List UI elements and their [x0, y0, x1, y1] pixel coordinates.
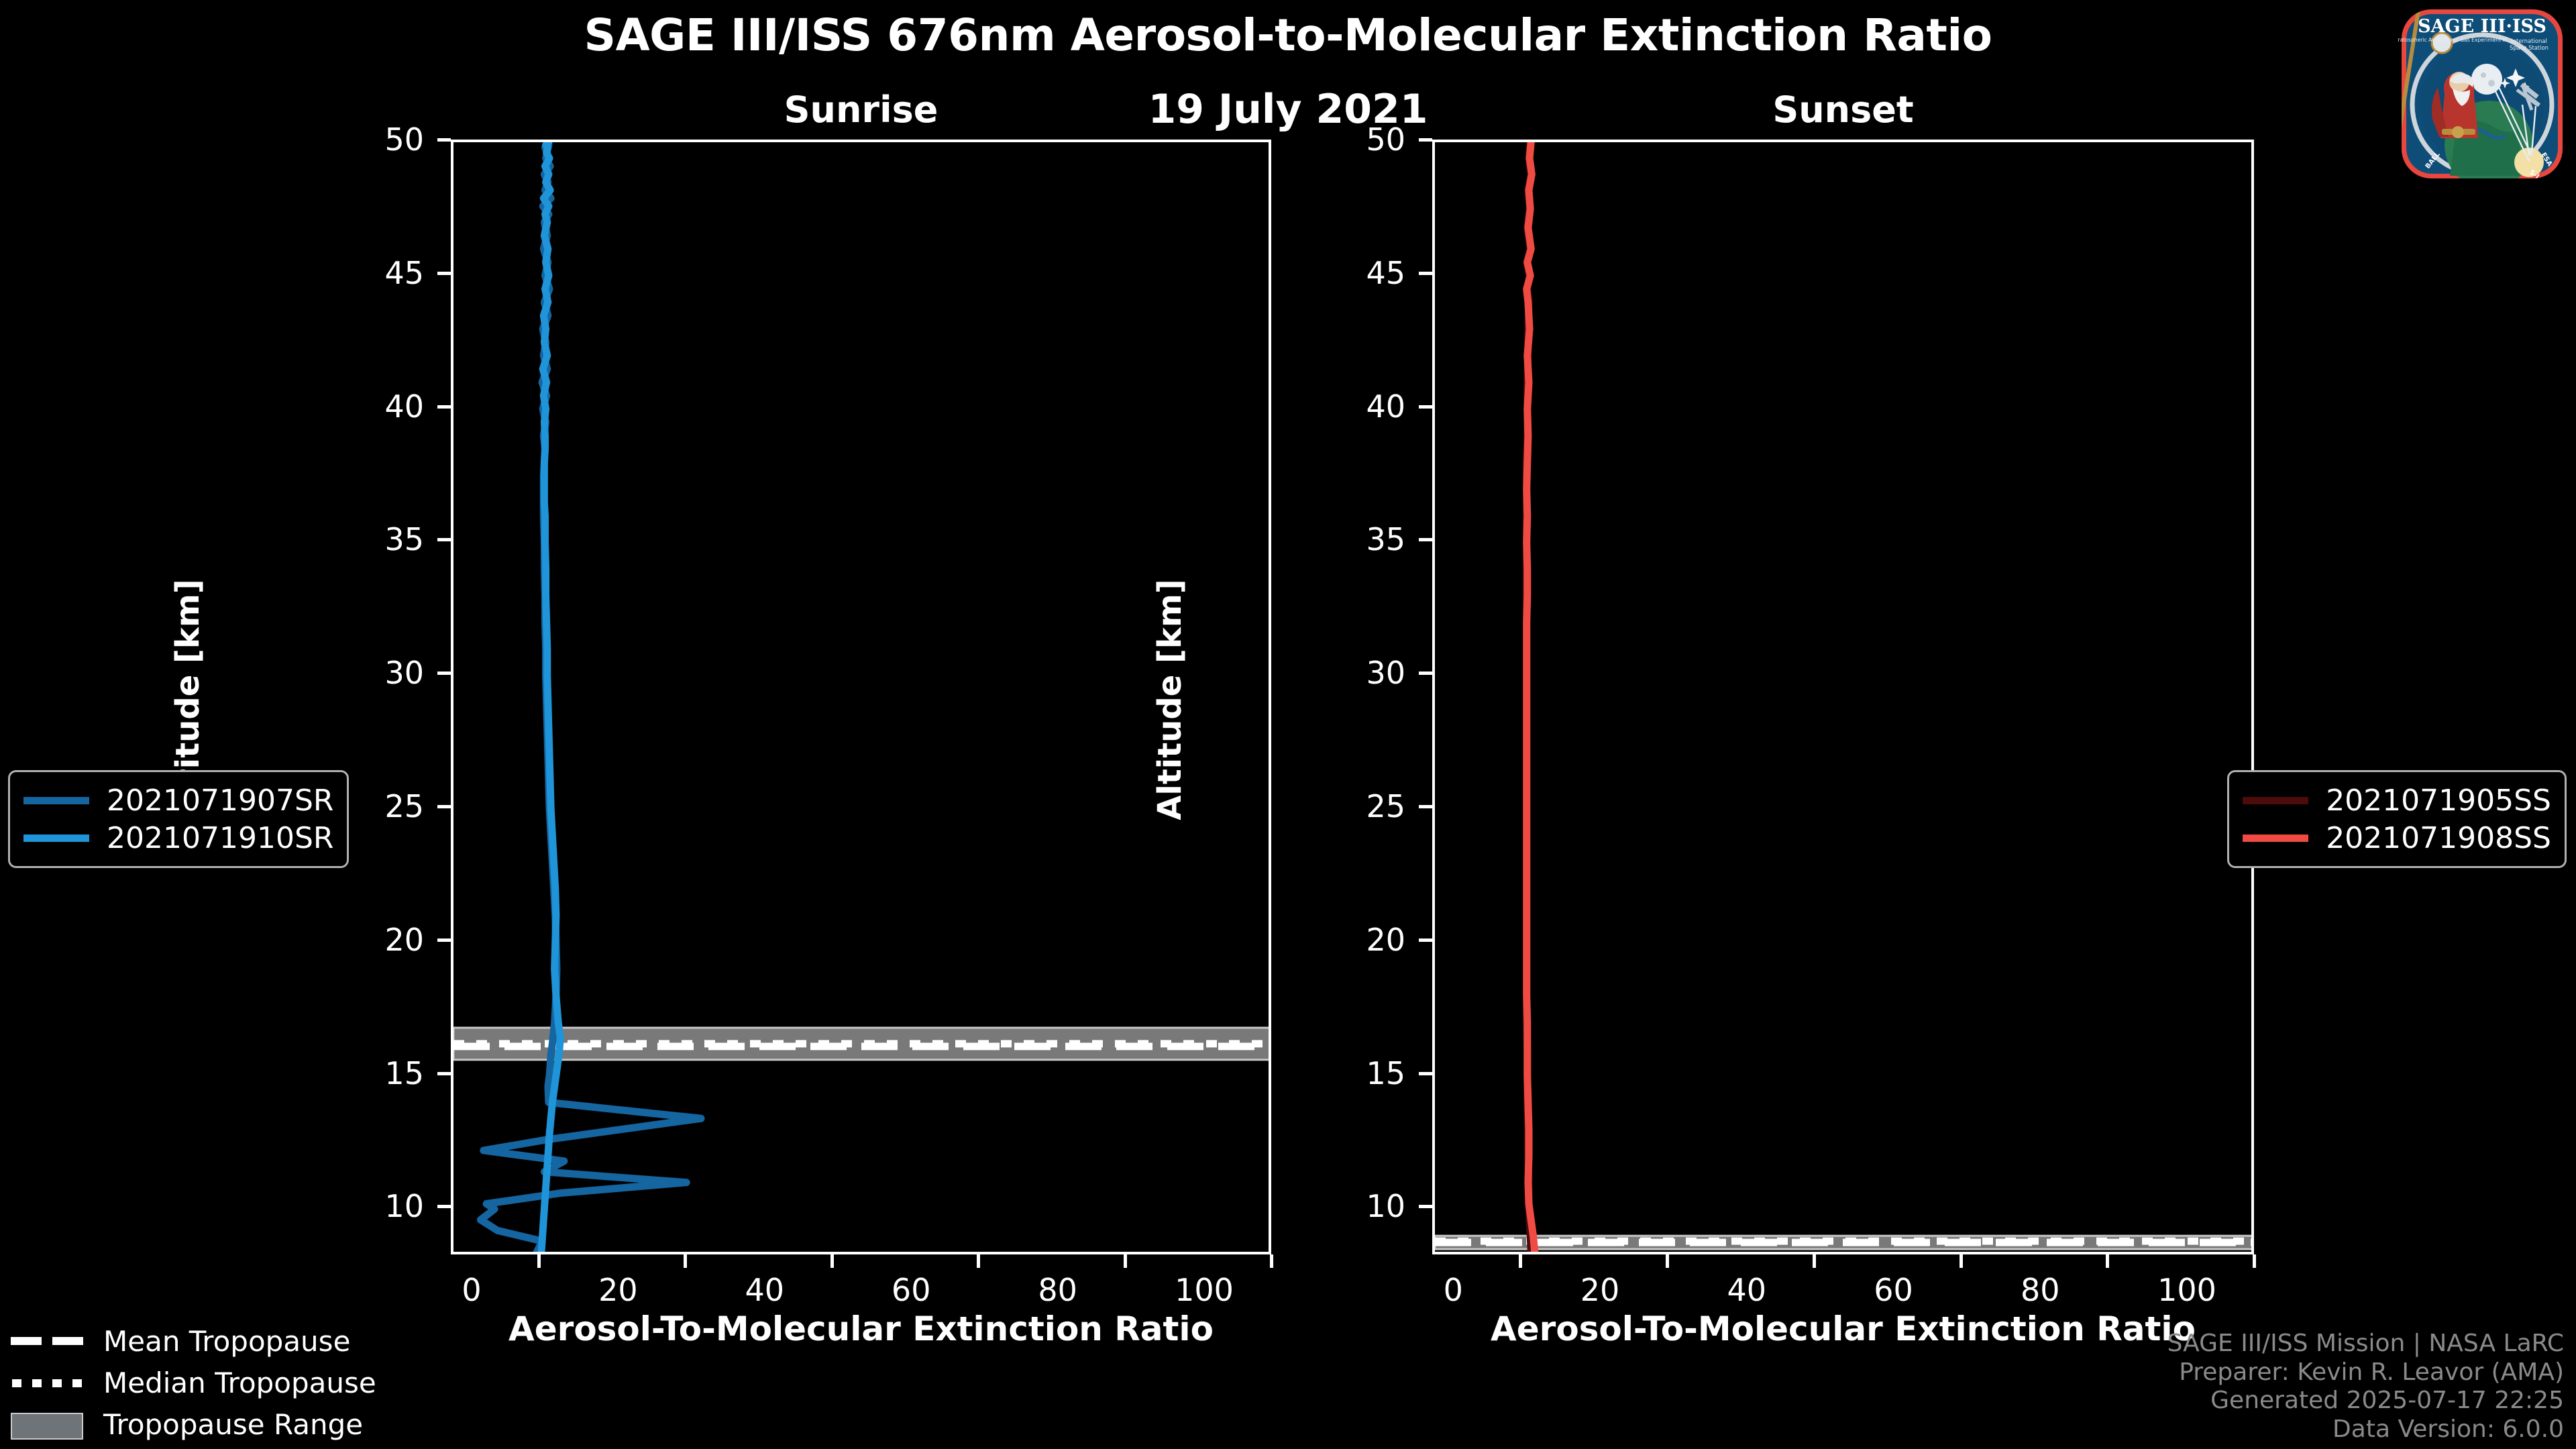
y-tick-mark — [437, 538, 451, 541]
x-tick-label: 40 — [698, 1272, 832, 1308]
dashed-line-icon — [11, 1334, 86, 1348]
x-tick-label: 80 — [1973, 1272, 2107, 1308]
y-tick-mark — [1419, 138, 1432, 142]
x-axis-label-sunrise: Aerosol-To-Molecular Extinction Ratio — [451, 1309, 1271, 1348]
y-tick-label: 50 — [323, 121, 424, 158]
sage-iii-iss-logo-icon: BALL ESA S-I SAGE III·ISS Stratospheric … — [2398, 4, 2567, 182]
y-tick-label: 20 — [323, 922, 424, 958]
y-axis-label-sunset: Altitude [km] — [1151, 398, 1189, 1002]
credits-line-version: Data Version: 6.0.0 — [2167, 1415, 2564, 1444]
x-tick-mark — [1519, 1254, 1522, 1268]
y-tick-mark — [1419, 1072, 1432, 1075]
x-tick-label: 60 — [844, 1272, 978, 1308]
legend-item[interactable]: 2021071907SR — [23, 782, 333, 819]
y-tick-label: 45 — [323, 255, 424, 291]
y-tick-mark — [1419, 1205, 1432, 1208]
x-tick-label: 100 — [2120, 1272, 2254, 1308]
y-tick-mark — [437, 272, 451, 275]
svg-text:International: International — [2511, 38, 2546, 44]
range-swatch-icon — [11, 1417, 86, 1432]
legend-item-median-tropopause: Median Tropopause — [11, 1362, 376, 1403]
data-series-line — [1527, 142, 1535, 1252]
y-tick-mark — [437, 1205, 451, 1208]
legend-label: 2021071905SS — [2326, 784, 2551, 818]
plot-area-sunset — [1432, 140, 2254, 1254]
y-tick-mark — [437, 805, 451, 808]
y-tick-label: 40 — [323, 388, 424, 425]
x-tick-label: 100 — [1137, 1272, 1271, 1308]
tropopause-legend: Mean Tropopause Median Tropopause Tropop… — [11, 1320, 376, 1445]
panel-title-sunrise: Sunrise — [451, 89, 1271, 131]
x-axis-label-sunset: Aerosol-To-Molecular Extinction Ratio — [1432, 1309, 2254, 1348]
x-tick-label: 80 — [991, 1272, 1125, 1308]
legend-item-tropopause-range: Tropopause Range — [11, 1403, 376, 1445]
y-tick-label: 15 — [323, 1055, 424, 1091]
legend-color-swatch — [2243, 835, 2308, 842]
x-tick-mark — [1270, 1254, 1273, 1268]
y-axis-label-sunrise: Altitude [km] — [169, 398, 207, 1002]
legend-item[interactable]: 2021071908SS — [2243, 819, 2551, 857]
y-tick-label: 30 — [1305, 655, 1405, 691]
legend-sunrise[interactable]: 2021071907SR2021071910SR — [8, 770, 349, 868]
legend-item[interactable]: 2021071910SR — [23, 819, 333, 857]
y-tick-mark — [437, 405, 451, 409]
legend-color-swatch — [2243, 797, 2308, 804]
x-tick-mark — [1960, 1254, 1963, 1268]
x-tick-mark — [1124, 1254, 1127, 1268]
y-tick-mark — [437, 1072, 451, 1075]
y-tick-label: 10 — [1305, 1188, 1405, 1224]
y-tick-label: 25 — [1305, 788, 1405, 824]
x-tick-mark — [977, 1254, 980, 1268]
y-tick-label: 35 — [323, 521, 424, 557]
y-tick-mark — [1419, 405, 1432, 409]
y-tick-mark — [437, 138, 451, 142]
x-tick-mark — [830, 1254, 834, 1268]
plot-area-sunrise — [451, 140, 1271, 1254]
legend-item[interactable]: 2021071905SS — [2243, 782, 2551, 819]
x-tick-label: 20 — [1533, 1272, 1667, 1308]
credits-line-preparer: Preparer: Kevin R. Leavor (AMA) — [2167, 1358, 2564, 1387]
x-tick-label: 20 — [551, 1272, 685, 1308]
y-tick-mark — [1419, 272, 1432, 275]
y-tick-label: 45 — [1305, 255, 1405, 291]
svg-text:Stratospheric Aerosol and Gas: Stratospheric Aerosol and Gas Experiment… — [2398, 37, 2507, 43]
legend-label-median-tropopause: Median Tropopause — [103, 1366, 376, 1399]
y-tick-mark — [1419, 538, 1432, 541]
y-tick-label: 30 — [323, 655, 424, 691]
x-tick-mark — [1666, 1254, 1669, 1268]
y-tick-label: 40 — [1305, 388, 1405, 425]
y-tick-label: 50 — [1305, 121, 1405, 158]
page-title: SAGE III/ISS 676nm Aerosol-to-Molecular … — [0, 9, 2576, 61]
y-tick-mark — [1419, 805, 1432, 808]
credits-block: SAGE III/ISS Mission | NASA LaRC Prepare… — [2167, 1330, 2564, 1444]
x-tick-mark — [1813, 1254, 1816, 1268]
legend-color-swatch — [23, 797, 89, 804]
y-tick-mark — [1419, 938, 1432, 942]
x-tick-label: 0 — [405, 1272, 539, 1308]
x-tick-mark — [2253, 1254, 2256, 1268]
y-tick-label: 15 — [1305, 1055, 1405, 1091]
credits-line-mission: SAGE III/ISS Mission | NASA LaRC — [2167, 1330, 2564, 1358]
svg-text:Space Station: Space Station — [2510, 44, 2548, 51]
legend-label-mean-tropopause: Mean Tropopause — [103, 1325, 350, 1358]
y-tick-mark — [1419, 672, 1432, 675]
y-tick-mark — [437, 672, 451, 675]
x-tick-mark — [2106, 1254, 2109, 1268]
x-tick-label: 60 — [1827, 1272, 1961, 1308]
x-tick-mark — [684, 1254, 687, 1268]
y-tick-label: 35 — [1305, 521, 1405, 557]
legend-label: 2021071908SS — [2326, 821, 2551, 855]
y-tick-label: 10 — [323, 1188, 424, 1224]
data-series-line — [480, 145, 701, 1252]
y-tick-label: 20 — [1305, 922, 1405, 958]
x-tick-label: 40 — [1680, 1272, 1814, 1308]
dotted-line-icon — [11, 1375, 86, 1390]
legend-sunset[interactable]: 2021071905SS2021071908SS — [2227, 770, 2567, 868]
legend-item-mean-tropopause: Mean Tropopause — [11, 1320, 376, 1362]
credits-line-generated: Generated 2025-07-17 22:25 — [2167, 1387, 2564, 1415]
panel-title-sunset: Sunset — [1432, 89, 2254, 131]
x-tick-mark — [537, 1254, 541, 1268]
legend-label: 2021071910SR — [107, 821, 333, 855]
svg-text:SAGE III·ISS: SAGE III·ISS — [2418, 16, 2546, 37]
legend-label: 2021071907SR — [107, 784, 333, 818]
legend-label-tropopause-range: Tropopause Range — [103, 1408, 363, 1441]
x-tick-label: 0 — [1386, 1272, 1520, 1308]
y-tick-mark — [437, 938, 451, 942]
legend-color-swatch — [23, 835, 89, 842]
